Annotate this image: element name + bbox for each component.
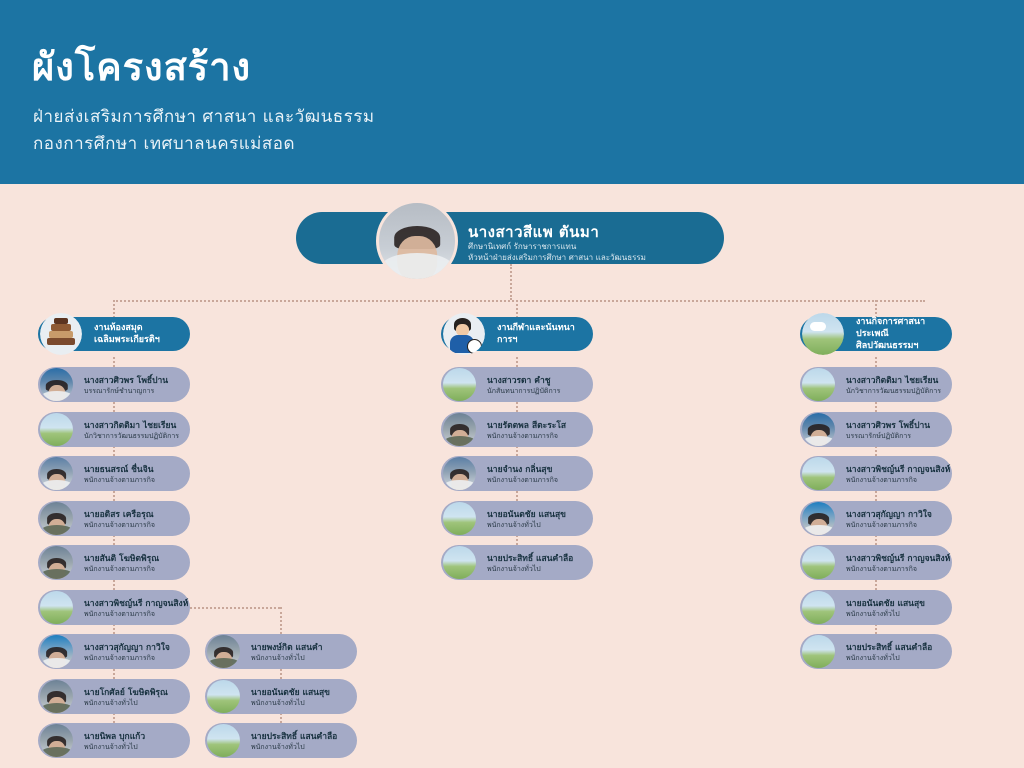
connector-religion-culture-2 — [875, 446, 877, 456]
member-card[interactable]: นายประสิทธิ์ แสนคำลือพนักงานจ้างทั่วไป — [800, 634, 952, 669]
member-card[interactable]: นางสาวพิชญ์นรี กาญจนสิงห์พนักงานจ้างตามภ… — [800, 545, 952, 580]
section-header-label-line-1: งานกิจการศาสนา ประเพณี — [856, 316, 952, 340]
connector-sports-4 — [516, 535, 518, 545]
member-avatar — [802, 635, 835, 668]
member-avatar — [207, 680, 240, 713]
member-role: นักวิชาการวัฒนธรรมปฏิบัติการ — [846, 386, 941, 397]
member-avatar — [40, 368, 73, 401]
connector-religion-culture-4 — [875, 535, 877, 545]
member-name: นายสันติ โฆษิตพิรุณ — [84, 551, 159, 565]
connector-religion-culture-1 — [875, 402, 877, 412]
member-name: นายประสิทธิ์ แสนคำลือ — [846, 640, 932, 654]
member-name: นางสาวพิชญ์นรี กาญจนสิงห์ — [846, 462, 950, 476]
connector-sports-3 — [516, 491, 518, 501]
section-header-label-line-1: งานกีฬาและนันทนาการฯ — [497, 322, 593, 346]
member-name: นายรัตตพล สีตะระโส — [487, 418, 566, 432]
member-card[interactable]: นางสาวศิวพร โพธิ์ปานบรรณารักษ์ปฏิบัติการ — [800, 412, 952, 447]
section-header-label-line-2: ศิลปวัฒนธรรมฯ — [856, 340, 952, 352]
member-avatar — [802, 413, 835, 446]
member-name: นายอนันตชัย แสนสุข — [846, 596, 925, 610]
member-name: นายประสิทธิ์ แสนคำลือ — [487, 551, 573, 565]
member-avatar — [40, 680, 73, 713]
member-name: นายธนสรณ์ ชื่นจิน — [84, 462, 154, 476]
connector-branch-2 — [280, 713, 282, 723]
connector-library-6 — [113, 624, 115, 634]
connector-library-0 — [113, 357, 115, 367]
member-avatar — [40, 591, 73, 624]
member-role: พนักงานจ้างทั่วไป — [487, 564, 541, 575]
member-avatar — [443, 546, 476, 579]
member-card[interactable]: นางสาวศิวพร โพธิ์ปานบรรณารักษ์ชำนาญการ — [38, 367, 190, 402]
member-role: พนักงานจ้างทั่วไป — [487, 520, 541, 531]
member-card[interactable]: นายประสิทธิ์ แสนคำลือพนักงานจ้างทั่วไป — [441, 545, 593, 580]
page-subtitle-organization: กองการศึกษา เทศบาลนครแม่สอด — [33, 130, 295, 157]
member-role: พนักงานจ้างทั่วไป — [846, 609, 900, 620]
member-name: นางสาวพิชญ์นรี กาญจนสิงห์ — [84, 596, 188, 610]
connector-religion-culture-6 — [875, 624, 877, 634]
connector-library-2 — [113, 446, 115, 456]
leader-role-line-2: หัวหน้าฝ่ายส่งเสริมการศึกษา ศาสนา และวัฒ… — [468, 251, 646, 264]
page-title: ผังโครงสร้าง — [32, 44, 251, 90]
member-name: นางสาวกิตติมา ไชยเรียน — [84, 418, 176, 432]
section-header-label: งานกีฬาและนันทนาการฯ — [497, 317, 593, 351]
soccer-player-icon — [443, 313, 485, 355]
member-role: พนักงานจ้างตามภารกิจ — [846, 475, 917, 486]
member-name: นายนิพล บุกแก้ว — [84, 729, 145, 743]
member-card[interactable]: นางสาวกิตติมา ไชยเรียนนักวิชาการวัฒนธรรม… — [800, 367, 952, 402]
member-name: นางสาวศิวพร โพธิ์ปาน — [846, 418, 930, 432]
member-card[interactable]: นายประสิทธิ์ แสนคำลือพนักงานจ้างทั่วไป — [205, 723, 357, 758]
page-subtitle-department: ฝ่ายส่งเสริมการศึกษา ศาสนา และวัฒนธรรม — [33, 103, 375, 130]
connector-branch-stem — [280, 607, 282, 635]
connector-sports-0 — [516, 357, 518, 367]
connector-library-4 — [113, 535, 115, 545]
connector-religion-culture-5 — [875, 580, 877, 590]
member-role: พนักงานจ้างตามภารกิจ — [846, 564, 917, 575]
member-avatar — [40, 635, 73, 668]
member-avatar — [207, 724, 240, 757]
connector-leader-stem — [510, 264, 512, 300]
connector-library-1 — [113, 402, 115, 412]
member-name: นายอนันตชัย แสนสุข — [251, 685, 330, 699]
member-avatar — [802, 502, 835, 535]
connector-library-8 — [113, 713, 115, 723]
page-header: ผังโครงสร้าง ฝ่ายส่งเสริมการศึกษา ศาสนา … — [0, 0, 1024, 184]
member-card[interactable]: นายอดิสร เครือรุณพนักงานจ้างตามภารกิจ — [38, 501, 190, 536]
member-avatar — [802, 368, 835, 401]
member-card[interactable]: นายจำนง กลิ่นสุขพนักงานจ้างตามภารกิจ — [441, 456, 593, 491]
member-role: พนักงานจ้างตามภารกิจ — [84, 609, 155, 620]
member-card[interactable]: นางสาวรดา คำชูนักสันทนาการปฏิบัติการ — [441, 367, 593, 402]
connector-religion-culture-0 — [875, 357, 877, 367]
connector-horizontal-rail — [113, 300, 925, 302]
section-header-label-line-2: เฉลิมพระเกียรติฯ — [94, 334, 160, 346]
member-card[interactable]: นายอนันตชัย แสนสุขพนักงานจ้างทั่วไป — [205, 679, 357, 714]
member-role: พนักงานจ้างตามภารกิจ — [84, 475, 155, 486]
member-card[interactable]: นายพงษ์กิต แสนคำพนักงานจ้างทั่วไป — [205, 634, 357, 669]
member-card[interactable]: นายอนันตชัย แสนสุขพนักงานจ้างทั่วไป — [800, 590, 952, 625]
member-card[interactable]: นางสาวสุกัญญา กาวิใจพนักงานจ้างตามภารกิจ — [38, 634, 190, 669]
member-role: พนักงานจ้างทั่วไป — [251, 653, 305, 664]
member-role: พนักงานจ้างทั่วไป — [251, 698, 305, 709]
member-name: นางสาวสุกัญญา กาวิใจ — [846, 507, 932, 521]
member-avatar — [40, 502, 73, 535]
member-name: นางสาวพิชญ์นรี กาญจนสิงห์ — [846, 551, 950, 565]
member-avatar — [443, 413, 476, 446]
connector-rail-to-library — [113, 300, 115, 318]
member-card[interactable]: นางสาวสุกัญญา กาวิใจพนักงานจ้างตามภารกิจ — [800, 501, 952, 536]
member-card[interactable]: นายนิพล บุกแก้วพนักงานจ้างทั่วไป — [38, 723, 190, 758]
member-avatar — [40, 546, 73, 579]
section-header-label: งานห้องสมุดเฉลิมพระเกียรติฯ — [94, 317, 160, 351]
connector-sports-2 — [516, 446, 518, 456]
member-role: บรรณารักษ์ชำนาญการ — [84, 386, 154, 397]
member-role: พนักงานจ้างตามภารกิจ — [487, 475, 558, 486]
member-name: นายจำนง กลิ่นสุข — [487, 462, 552, 476]
member-name: นายอนันตชัย แสนสุข — [487, 507, 566, 521]
member-card[interactable]: นางสาวพิชญ์นรี กาญจนสิงห์พนักงานจ้างตามภ… — [800, 456, 952, 491]
member-avatar — [443, 502, 476, 535]
landscape-icon — [802, 313, 844, 355]
leader-card[interactable]: นางสาวสีแพ ตันมา ศึกษานิเทศก์ รักษาราชกา… — [296, 212, 724, 264]
member-avatar — [802, 591, 835, 624]
member-avatar — [802, 546, 835, 579]
member-avatar — [443, 457, 476, 490]
member-role: นักสันทนาการปฏิบัติการ — [487, 386, 560, 397]
member-role: พนักงานจ้างตามภารกิจ — [84, 520, 155, 531]
member-role: พนักงานจ้างทั่วไป — [84, 698, 138, 709]
member-name: นางสาวกิตติมา ไชยเรียน — [846, 373, 938, 387]
member-name: นางสาวศิวพร โพธิ์ปาน — [84, 373, 168, 387]
member-card[interactable]: นายรัตตพล สีตะระโสพนักงานจ้างตามภารกิจ — [441, 412, 593, 447]
member-avatar — [443, 368, 476, 401]
member-name: นายพงษ์กิต แสนคำ — [251, 640, 322, 654]
member-role: บรรณารักษ์ปฏิบัติการ — [846, 431, 911, 442]
section-header-sports[interactable]: งานกีฬาและนันทนาการฯ — [441, 317, 593, 351]
section-header-religion-culture[interactable]: งานกิจการศาสนา ประเพณีศิลปวัฒนธรรมฯ — [800, 317, 952, 351]
member-role: พนักงานจ้างตามภารกิจ — [487, 431, 558, 442]
member-card[interactable]: นายธนสรณ์ ชื่นจินพนักงานจ้างตามภารกิจ — [38, 456, 190, 491]
member-avatar — [40, 724, 73, 757]
member-avatar — [207, 635, 240, 668]
member-name: นางสาวรดา คำชู — [487, 373, 551, 387]
member-role: พนักงานจ้างตามภารกิจ — [846, 520, 917, 531]
connector-library-5 — [113, 580, 115, 590]
section-header-library[interactable]: งานห้องสมุดเฉลิมพระเกียรติฯ — [38, 317, 190, 351]
member-name: นายประสิทธิ์ แสนคำลือ — [251, 729, 337, 743]
member-card[interactable]: นายโกศัลย์ โฆษิตพิรุณพนักงานจ้างทั่วไป — [38, 679, 190, 714]
member-avatar — [40, 457, 73, 490]
books-icon — [40, 313, 82, 355]
member-avatar — [40, 413, 73, 446]
section-header-label: งานกิจการศาสนา ประเพณีศิลปวัฒนธรรมฯ — [856, 317, 952, 351]
member-role: พนักงานจ้างทั่วไป — [84, 742, 138, 753]
member-role: พนักงานจ้างตามภารกิจ — [84, 564, 155, 575]
member-card[interactable]: นายสันติ โฆษิตพิรุณพนักงานจ้างตามภารกิจ — [38, 545, 190, 580]
connector-religion-culture-3 — [875, 491, 877, 501]
connector-rail-to-sports — [516, 300, 518, 318]
member-role: นักวิชาการวัฒนธรรมปฏิบัติการ — [84, 431, 179, 442]
member-card[interactable]: นายอนันตชัย แสนสุขพนักงานจ้างทั่วไป — [441, 501, 593, 536]
leader-avatar — [376, 200, 458, 282]
member-card[interactable]: นางสาวพิชญ์นรี กาญจนสิงห์พนักงานจ้างตามภ… — [38, 590, 190, 625]
member-role: พนักงานจ้างทั่วไป — [846, 653, 900, 664]
connector-branch-1 — [280, 669, 282, 679]
member-role: พนักงานจ้างตามภารกิจ — [84, 653, 155, 664]
member-name: นางสาวสุกัญญา กาวิใจ — [84, 640, 170, 654]
member-name: นายอดิสร เครือรุณ — [84, 507, 154, 521]
connector-library-3 — [113, 491, 115, 501]
connector-sports-1 — [516, 402, 518, 412]
member-role: พนักงานจ้างทั่วไป — [251, 742, 305, 753]
connector-library-7 — [113, 669, 115, 679]
member-card[interactable]: นางสาวกิตติมา ไชยเรียนนักวิชาการวัฒนธรรม… — [38, 412, 190, 447]
section-header-label-line-1: งานห้องสมุด — [94, 322, 160, 334]
member-avatar — [802, 457, 835, 490]
member-name: นายโกศัลย์ โฆษิตพิรุณ — [84, 685, 168, 699]
